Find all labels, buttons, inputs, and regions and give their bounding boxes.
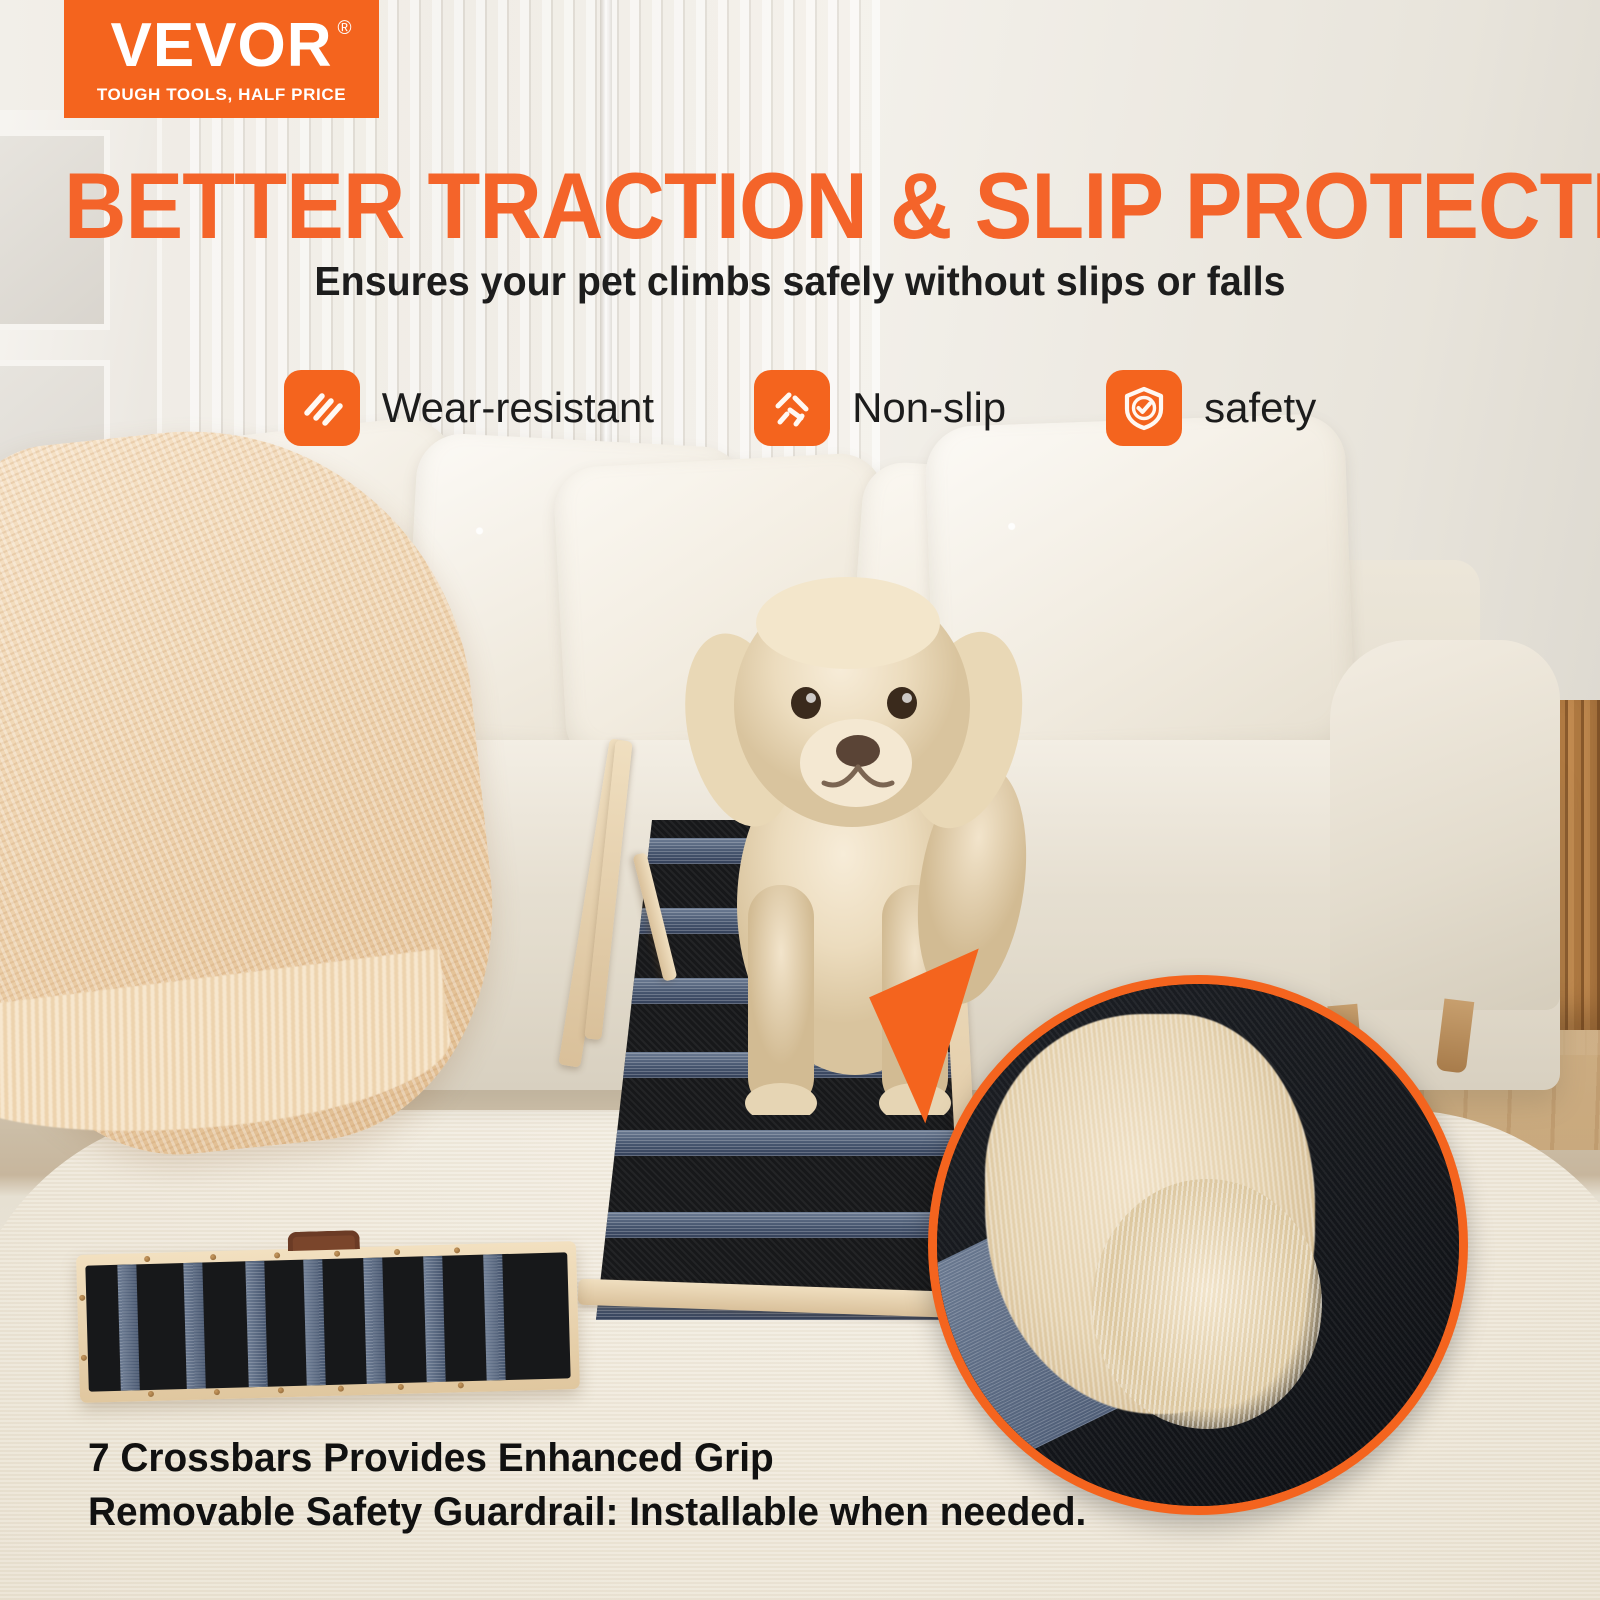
folded-crossbar: [183, 1262, 206, 1388]
bottom-caption: 7 Crossbars Provides Enhanced Grip Remov…: [88, 1432, 1155, 1539]
feature-badge-label: Wear-resistant: [382, 384, 654, 432]
feature-badge-wear-resistant: Wear-resistant: [284, 370, 654, 446]
feature-badge-label: safety: [1204, 384, 1316, 432]
carry-handle: [287, 1230, 360, 1251]
folded-crossbar: [483, 1254, 506, 1380]
folded-ramp-inset: [76, 1241, 580, 1403]
sofa-arm-right: [1330, 640, 1560, 1010]
folded-crossbar: [117, 1264, 140, 1390]
feature-badge-non-slip: Non-slip: [754, 370, 1006, 446]
feature-badge-safety: safety: [1106, 370, 1316, 446]
caption-line-1: 7 Crossbars Provides Enhanced Grip: [88, 1432, 1155, 1486]
logo-tagline: TOUGH TOOLS, HALF PRICE: [97, 86, 346, 103]
folded-crossbar: [363, 1257, 386, 1383]
scattered-dashes-icon: [754, 370, 830, 446]
folded-crossbar: [303, 1259, 326, 1385]
shield-check-icon: [1106, 370, 1182, 446]
page-subtitle: Ensures your pet climbs safely without s…: [32, 258, 1568, 305]
logo-wordmark: VEVOR®: [110, 15, 332, 77]
folded-crossbar: [245, 1261, 268, 1387]
diagonal-stripes-icon: [284, 370, 360, 446]
feature-badge-label: Non-slip: [852, 384, 1006, 432]
page-title: BETTER TRACTION & SLIP PROTECTION: [64, 152, 1536, 260]
vevor-logo: VEVOR® TOUGH TOOLS, HALF PRICE: [64, 0, 379, 118]
folded-ramp-deck: [85, 1252, 570, 1391]
registered-trademark-icon: ®: [338, 19, 353, 38]
folded-crossbar: [423, 1256, 446, 1382]
caption-line-2: Removable Safety Guardrail: Installable …: [88, 1486, 1155, 1540]
callout-dog-paw: [1092, 1179, 1322, 1429]
feature-badge-row: Wear-resistant Non-slip safety: [0, 370, 1600, 446]
